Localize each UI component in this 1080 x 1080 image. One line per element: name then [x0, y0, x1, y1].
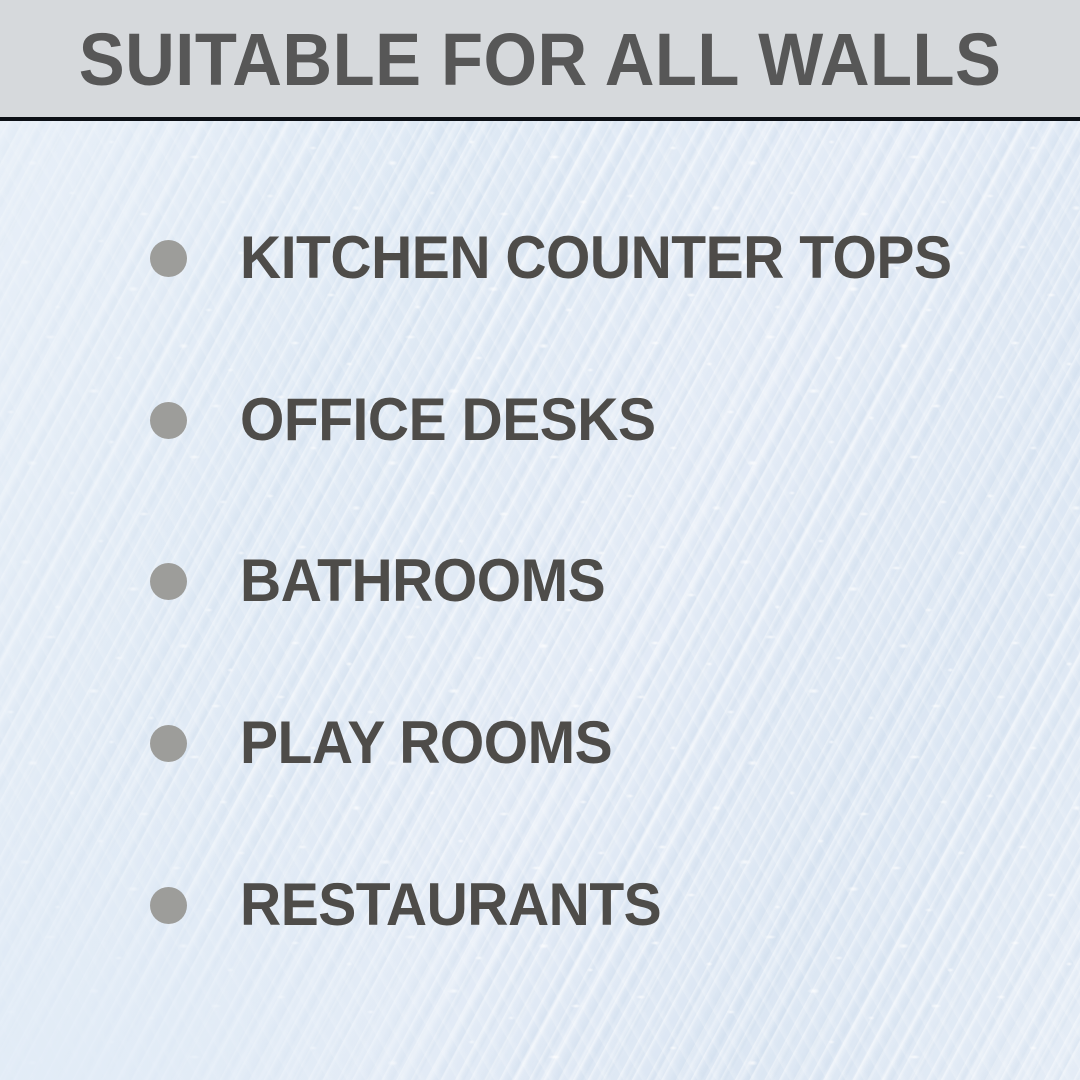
list-item-label: RESTAURANTS	[240, 875, 661, 935]
suitable-surfaces-list: KITCHEN COUNTER TOPS OFFICE DESKS BATHRO…	[0, 121, 1080, 1080]
list-item-label: PLAY ROOMS	[240, 713, 612, 773]
list-item: BATHROOMS	[150, 551, 624, 611]
filled-circle-bullet-icon	[150, 240, 187, 277]
header-divider	[0, 117, 1080, 121]
page-title: SUITABLE FOR ALL WALLS	[79, 23, 1002, 97]
list-item-label: KITCHEN COUNTER TOPS	[240, 228, 951, 288]
product-feature-poster: SUITABLE FOR ALL WALLS KITCHEN COUNTER T…	[0, 0, 1080, 1080]
filled-circle-bullet-icon	[150, 402, 187, 439]
list-item: KITCHEN COUNTER TOPS	[150, 228, 989, 288]
header-band: SUITABLE FOR ALL WALLS	[0, 0, 1080, 117]
list-item: RESTAURANTS	[150, 875, 683, 935]
textured-wall-background: KITCHEN COUNTER TOPS OFFICE DESKS BATHRO…	[0, 121, 1080, 1080]
filled-circle-bullet-icon	[150, 563, 187, 600]
list-item: PLAY ROOMS	[150, 713, 632, 773]
list-item: OFFICE DESKS	[150, 390, 677, 450]
filled-circle-bullet-icon	[150, 887, 187, 924]
list-item-label: BATHROOMS	[240, 551, 605, 611]
filled-circle-bullet-icon	[150, 725, 187, 762]
list-item-label: OFFICE DESKS	[240, 390, 656, 450]
